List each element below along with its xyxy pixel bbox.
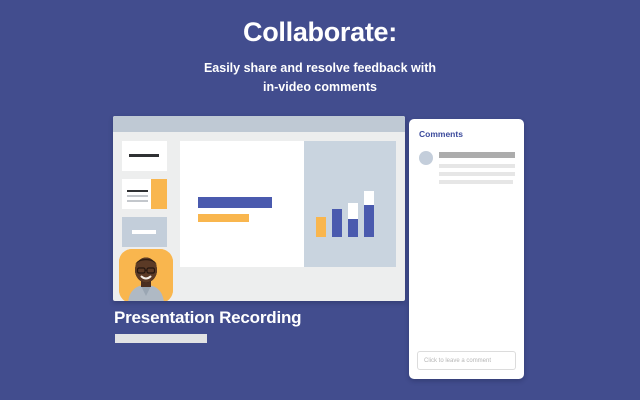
page-subtitle-line-2: in-video comments	[0, 78, 640, 97]
video-title: Presentation Recording	[114, 308, 301, 328]
comment-body	[439, 151, 515, 188]
video-subtitle-placeholder	[115, 334, 207, 343]
stage: Presentation Recording Comments Click to…	[113, 116, 530, 381]
comment-text-line	[439, 172, 515, 176]
hero-section: Collaborate: Easily share and resolve fe…	[0, 0, 640, 97]
presenter-avatar	[119, 249, 173, 301]
comment-input[interactable]: Click to leave a comment	[417, 351, 516, 370]
slide-left-pane	[180, 141, 304, 267]
comments-heading: Comments	[419, 129, 463, 139]
thumbnail-text-lines	[127, 190, 148, 204]
slide-thumbnail-1[interactable]	[122, 141, 167, 171]
slide-bar-blue	[198, 197, 272, 208]
comment-text-line	[439, 180, 513, 184]
comment-list-item[interactable]	[419, 151, 515, 188]
thumbnail-title-line	[129, 154, 159, 157]
comment-text-line	[439, 164, 515, 168]
slide-preview	[180, 141, 396, 267]
comments-panel: Comments Click to leave a comment	[409, 119, 524, 379]
slide-bar-orange	[198, 214, 249, 222]
comment-input-placeholder: Click to leave a comment	[424, 358, 491, 364]
comment-author-placeholder	[439, 152, 515, 158]
slide-thumbnail-rail[interactable]	[122, 141, 167, 255]
slide-thumbnail-2[interactable]	[122, 179, 167, 209]
player-body	[113, 132, 405, 301]
thumbnail-white-bar	[132, 230, 156, 234]
slide-right-pane	[304, 141, 396, 267]
comment-author-avatar	[419, 151, 433, 165]
page-subtitle: Easily share and resolve feedback with i…	[0, 59, 640, 98]
player-toolbar	[113, 116, 405, 132]
page-subtitle-line-1: Easily share and resolve feedback with	[0, 59, 640, 78]
slide-thumbnail-3[interactable]	[122, 217, 167, 247]
bar-chart-column-2	[332, 209, 342, 237]
bar-chart	[316, 193, 380, 237]
thumbnail-orange-block	[151, 179, 167, 209]
video-player-card[interactable]	[113, 116, 405, 301]
bar-chart-column-3	[348, 203, 358, 237]
page-title: Collaborate:	[0, 18, 640, 48]
bar-chart-column-1	[316, 217, 326, 237]
bar-chart-column-4	[364, 191, 374, 237]
